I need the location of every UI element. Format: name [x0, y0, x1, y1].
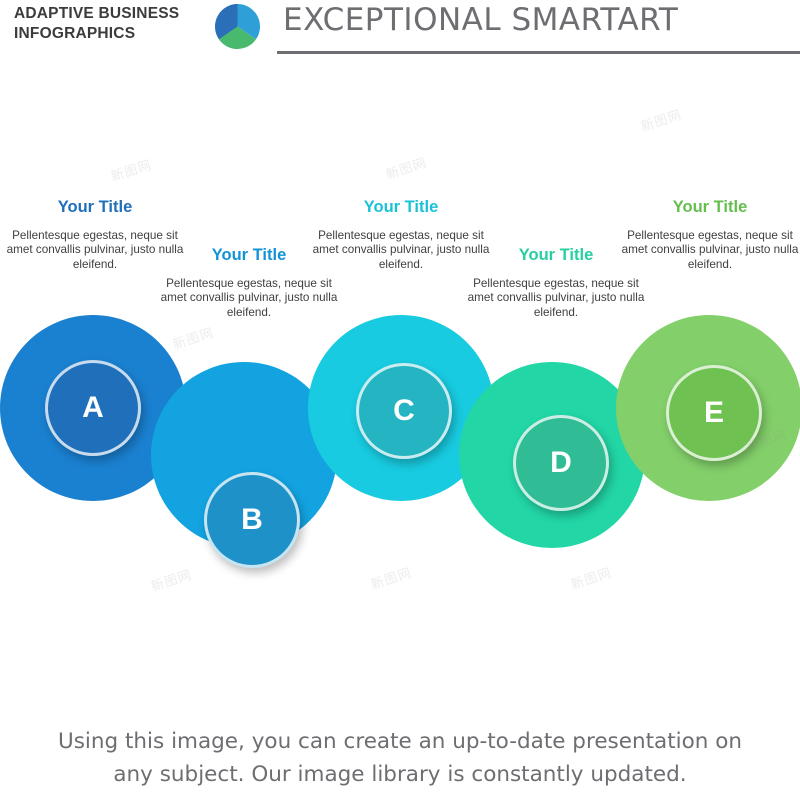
footer-line-2: any subject. Our image library is consta… [0, 758, 800, 791]
page-title: EXCEPTIONAL SMARTART [283, 2, 678, 38]
infographic-diagram: A Your Title Pellentesque egestas, neque… [0, 58, 800, 718]
node-letter-c: C [393, 394, 415, 428]
brand-line-2: INFOGRAPHICS [14, 24, 214, 44]
inner-circle-d[interactable]: D [513, 415, 609, 511]
text-block-e: Your Title Pellentesque egestas, neque s… [615, 198, 800, 284]
inner-circle-c[interactable]: C [356, 363, 452, 459]
node-desc-e: Pellentesque egestas, neque sit amet con… [615, 229, 800, 273]
brand-text: ADAPTIVE BUSINESS INFOGRAPHICS [14, 4, 214, 44]
inner-circle-b[interactable]: B [204, 472, 300, 568]
node-letter-b: B [241, 503, 263, 537]
inner-circle-a[interactable]: A [45, 360, 141, 456]
node-letter-e: E [704, 396, 724, 430]
page-header: ADAPTIVE BUSINESS INFOGRAPHICS EXCEPTION… [0, 0, 800, 58]
node-title-e: Your Title [615, 198, 800, 217]
node-letter-a: A [82, 391, 104, 425]
node-title-c: Your Title [306, 198, 496, 217]
inner-circle-e[interactable]: E [666, 365, 762, 461]
brand-line-1: ADAPTIVE BUSINESS [14, 5, 179, 22]
node-title-a: Your Title [0, 198, 190, 217]
header-divider [277, 51, 800, 54]
footer-line-1: Using this image, you can create an up-t… [0, 725, 800, 758]
pie-circle-logo-icon [215, 4, 260, 49]
footer-caption: Using this image, you can create an up-t… [0, 725, 800, 791]
node-letter-d: D [550, 446, 572, 480]
